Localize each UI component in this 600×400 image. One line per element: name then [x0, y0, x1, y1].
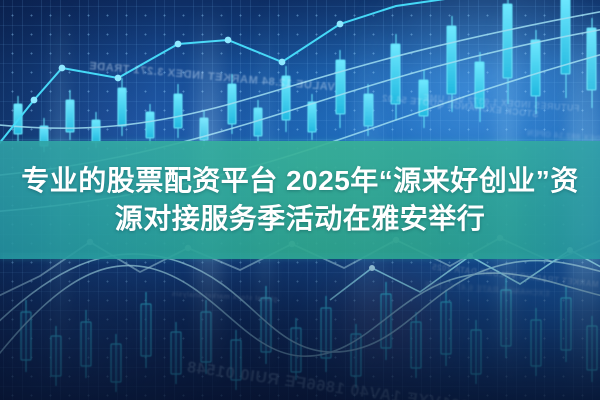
headline-line-1: 专业的股票配资平台 2025年“源来好创业”资 [21, 163, 579, 199]
banner-image: VALUE 12.84 MARKET INDEX 3.271 TRADE STO… [0, 0, 600, 400]
headline-block: 专业的股票配资平台 2025年“源来好创业”资 源对接服务季活动在雅安举行 [0, 141, 600, 259]
headline-line-2: 源对接服务季活动在雅安举行 [115, 201, 486, 237]
